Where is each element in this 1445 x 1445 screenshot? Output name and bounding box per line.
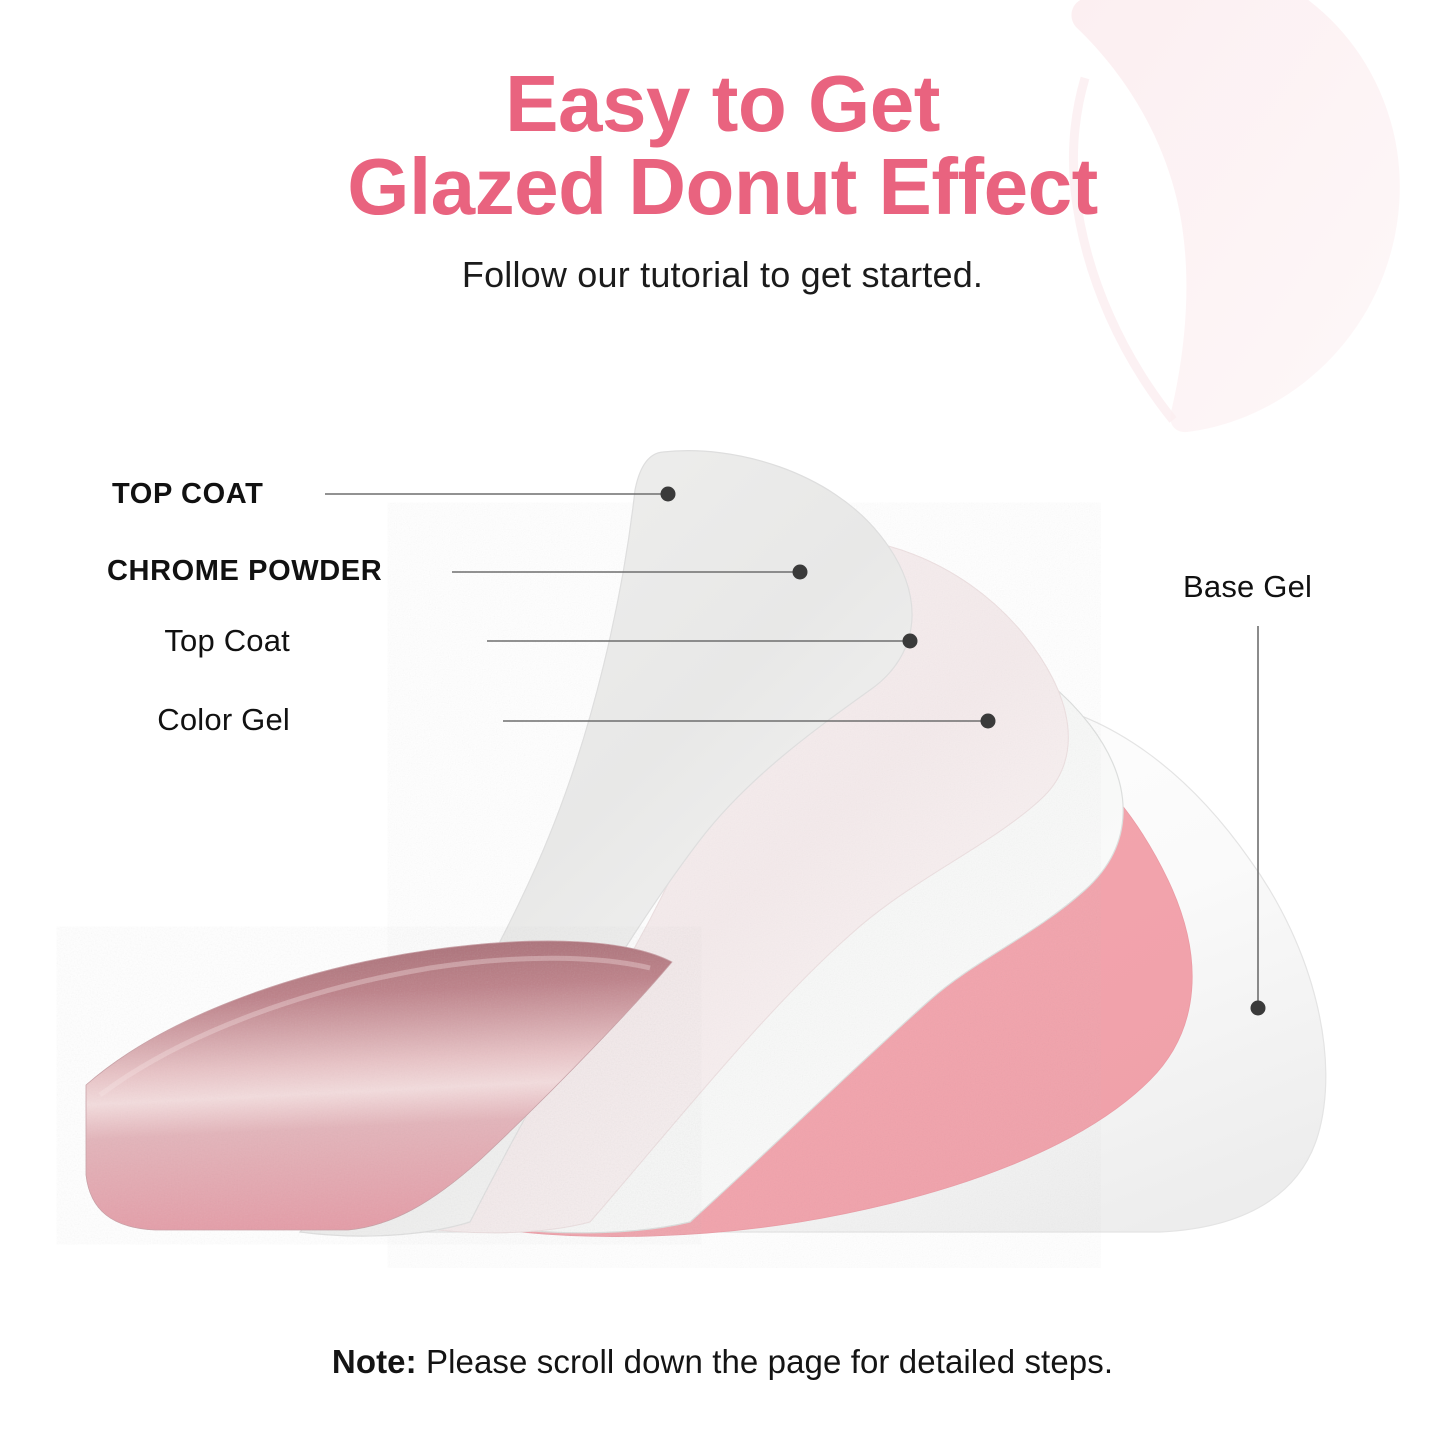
footer-note: Note: Please scroll down the page for de…	[0, 1343, 1445, 1381]
footer-note-text: Please scroll down the page for detailed…	[417, 1343, 1113, 1380]
layer-color-gel	[520, 718, 1192, 1237]
label-base-gel: Base Gel	[1183, 571, 1312, 602]
leader-dot-top-coat	[903, 634, 918, 649]
page-subtitle: Follow our tutorial to get started.	[0, 254, 1445, 296]
layer-top-coat-inner	[500, 634, 1123, 1233]
layer-finished-rose-gold-nail	[86, 941, 672, 1230]
layer-base-gel	[400, 700, 1326, 1232]
leader-dot-base-gel	[1251, 1001, 1266, 1016]
leader-dot-color-gel	[981, 714, 996, 729]
layer-chrome-powder	[420, 538, 1068, 1233]
page-title-line-1: Easy to Get	[0, 62, 1445, 145]
leader-dots-group	[661, 487, 1266, 1016]
leader-lines-group	[325, 494, 1258, 1008]
leader-dot-top-coat-caps	[661, 487, 676, 502]
page-title-line-2: Glazed Donut Effect	[0, 145, 1445, 228]
label-color-gel: Color Gel	[157, 704, 290, 735]
label-top-coat: Top Coat	[164, 625, 290, 656]
infographic-canvas: Easy to Get Glazed Donut Effect Follow o…	[0, 0, 1445, 1445]
leader-dot-chrome-powder	[793, 565, 808, 580]
label-top-coat-caps: TOP COAT	[112, 480, 263, 509]
footer-note-label: Note:	[332, 1343, 417, 1380]
label-chrome-powder: CHROME POWDER	[107, 557, 382, 586]
page-header: Easy to Get Glazed Donut Effect Follow o…	[0, 62, 1445, 296]
layer-top-coat-outer	[300, 451, 912, 1236]
